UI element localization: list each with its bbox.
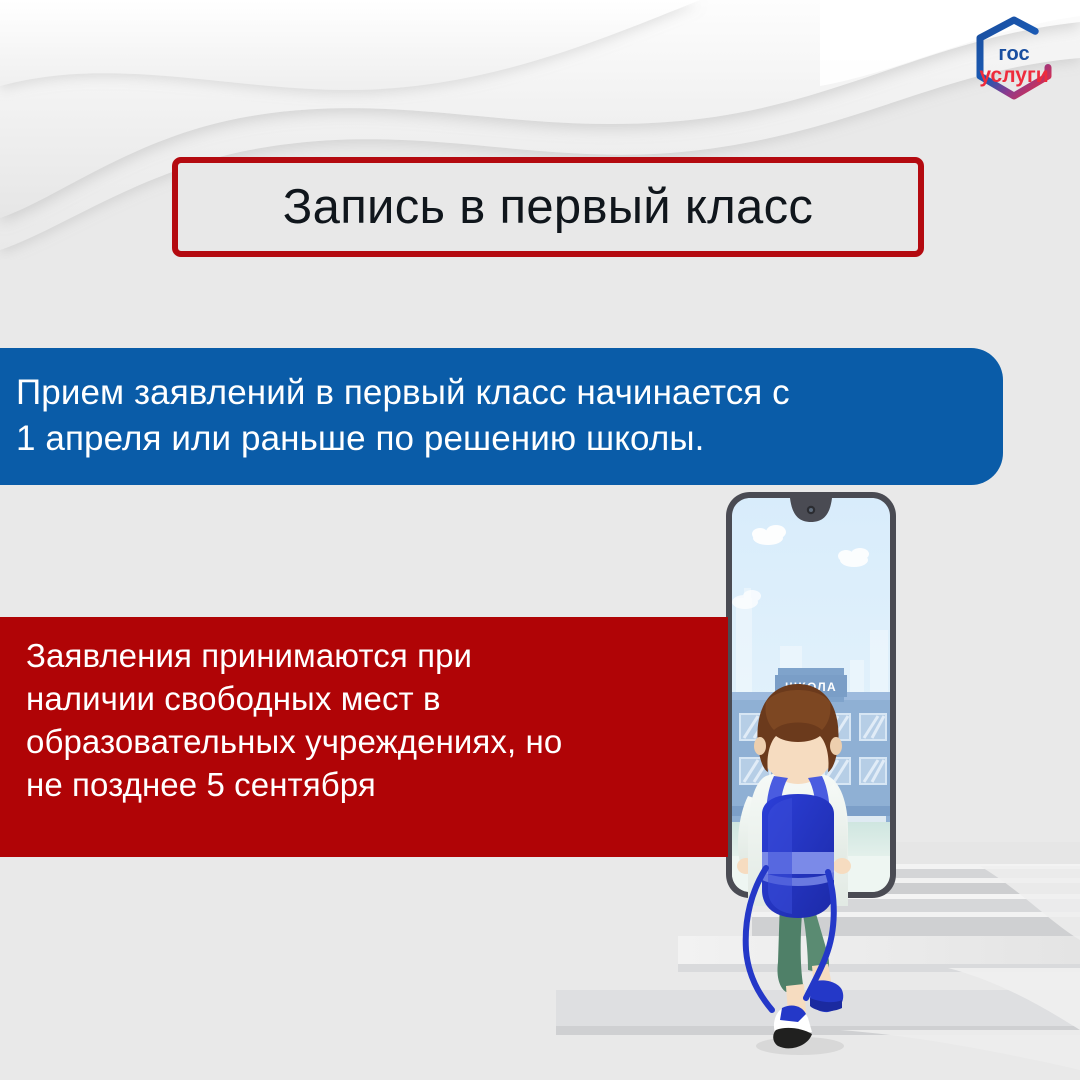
gosuslugi-logo[interactable]: гос услуги [966, 14, 1062, 104]
front-camera-lens-icon [809, 508, 813, 512]
info-banner-blue-line-1: Прием заявлений в первый класс начинаетс… [16, 370, 963, 416]
info-banner-red-line-1: Заявления принимаются при [26, 635, 702, 678]
logo-text-gos: гос [998, 43, 1029, 65]
poster-canvas: гос услуги Запись в первый класс Прием з… [0, 0, 1080, 1080]
info-banner-red-line-2: наличии свободных мест в [26, 678, 702, 721]
info-banner-blue: Прием заявлений в первый класс начинаетс… [0, 348, 1003, 485]
page-title-box: Запись в первый класс [172, 157, 924, 257]
logo-text-uslugi: услуги [979, 64, 1048, 87]
info-banner-red: Заявления принимаются при наличии свобод… [0, 617, 728, 857]
info-banner-red-line-4: не позднее 5 сентября [26, 764, 702, 807]
info-banner-blue-line-2: 1 апреля или раньше по решению школы. [16, 416, 963, 462]
backpack [762, 794, 834, 918]
page-title: Запись в первый класс [283, 179, 813, 235]
info-banner-red-line-3: образовательных учреждениях, но [26, 721, 702, 764]
